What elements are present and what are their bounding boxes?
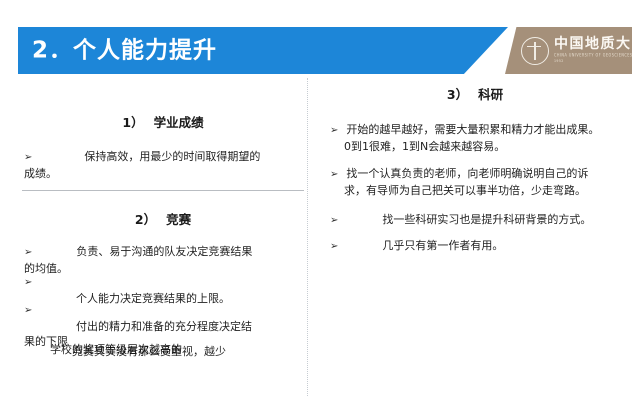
bullet-arrow-icon: ➢ xyxy=(24,151,32,166)
right-column: 3）科研 ➢开始的越早越好，需要大量积累和精力才能出成果。 0到1很难，1到N会… xyxy=(330,78,620,405)
bullet-competition-1: ➢负责、易于沟通的队友决定竞赛结果 的均值。 xyxy=(24,244,302,276)
left-column: 1）学业成绩 ➢保持高效，用最少的时间取得期望的 成绩。 2）竞赛 ➢负责、易于… xyxy=(22,78,304,405)
section-heading-academic: 1）学业成绩 xyxy=(22,115,304,131)
section-title-2: 竞赛 xyxy=(166,212,191,227)
slide-body: 1）学业成绩 ➢保持高效，用最少的时间取得期望的 成绩。 2）竞赛 ➢负责、易于… xyxy=(0,78,632,405)
slide-root: 2．个人能力提升 中国地质大学 CHINA UNIVERSITY OF GEOS… xyxy=(0,0,632,405)
bullet-research-3: ➢找一些科研实习也是提升科研背景的方式。 xyxy=(330,212,618,229)
bullet-academic-1-line2: 成绩。 xyxy=(24,166,302,182)
bullet-academic-1: ➢保持高效，用最少的时间取得期望的 成绩。 xyxy=(24,149,302,181)
section-heading-competition: 2）竞赛 xyxy=(22,212,304,228)
university-established-year: 1952 xyxy=(554,60,632,63)
section-title-1: 学业成绩 xyxy=(154,115,204,130)
bullet-research-3-line1: 找一些科研实习也是提升科研背景的方式。 xyxy=(382,213,591,226)
bullet-competition-3-line1: 付出的精力和准备的充分程度决定结 xyxy=(24,319,302,335)
university-logo-plate: 中国地质大学 CHINA UNIVERSITY OF GEOSCIENCES 1… xyxy=(505,27,632,74)
bullet-research-2-line2: 求，有导师为自己把关可以事半功倍，少走弯路。 xyxy=(330,183,618,199)
section-number-3: 3） xyxy=(447,87,468,102)
bullet-arrow-icon: ➢ xyxy=(330,168,338,183)
bullet-research-2-line1: 找一个认真负责的老师，向老师明确说明自己的诉 xyxy=(346,167,588,180)
slide-header: 2．个人能力提升 中国地质大学 CHINA UNIVERSITY OF GEOS… xyxy=(0,27,632,74)
bullet-research-1-line1: 开始的越早越好，需要大量积累和精力才能出成果。 xyxy=(346,123,599,136)
overlapping-text-front: 竞赛其实没有那么受重视，越少 xyxy=(72,344,312,360)
bullet-research-1: ➢开始的越早越好，需要大量积累和精力才能出成果。 0到1很难，1到N会越来越容易… xyxy=(330,122,618,154)
bullet-competition-1-line1: 负责、易于沟通的队友决定竞赛结果 xyxy=(76,245,252,258)
university-name-cn: 中国地质大学 xyxy=(554,37,632,52)
bullet-arrow-icon: ➢ xyxy=(24,276,32,291)
bullet-research-2: ➢找一个认真负责的老师，向老师明确说明自己的诉 求，有导师为自己把关可以事半功倍… xyxy=(330,166,618,198)
bullet-research-1-line2: 0到1很难，1到N会越来越容易。 xyxy=(330,139,618,155)
section-divider xyxy=(22,190,304,191)
bullet-academic-1-line1: 保持高效，用最少的时间取得期望的 xyxy=(84,150,260,163)
bullet-arrow-icon: ➢ xyxy=(330,214,338,229)
section-heading-research: 3）科研 xyxy=(330,87,620,103)
bullet-arrow-icon: ➢ xyxy=(24,304,32,319)
university-seal-icon xyxy=(521,37,549,65)
section-number-2: 2） xyxy=(135,212,156,227)
overlapping-text-front-label: 竞赛其实没有那么受重视，越少 xyxy=(72,345,226,358)
bullet-arrow-icon: ➢ xyxy=(330,124,338,139)
bullet-research-4-line1: 几乎只有第一作者有用。 xyxy=(382,239,503,252)
bullet-arrow-icon: ➢ xyxy=(24,246,32,261)
bullet-arrow-icon: ➢ xyxy=(330,240,338,255)
section-title-3: 科研 xyxy=(478,87,503,102)
section-number-1: 1） xyxy=(122,115,143,130)
bullet-research-4: ➢几乎只有第一作者有用。 xyxy=(330,238,618,255)
university-name-en: CHINA UNIVERSITY OF GEOSCIENCES xyxy=(554,54,632,58)
page-title: 2．个人能力提升 xyxy=(32,39,217,62)
